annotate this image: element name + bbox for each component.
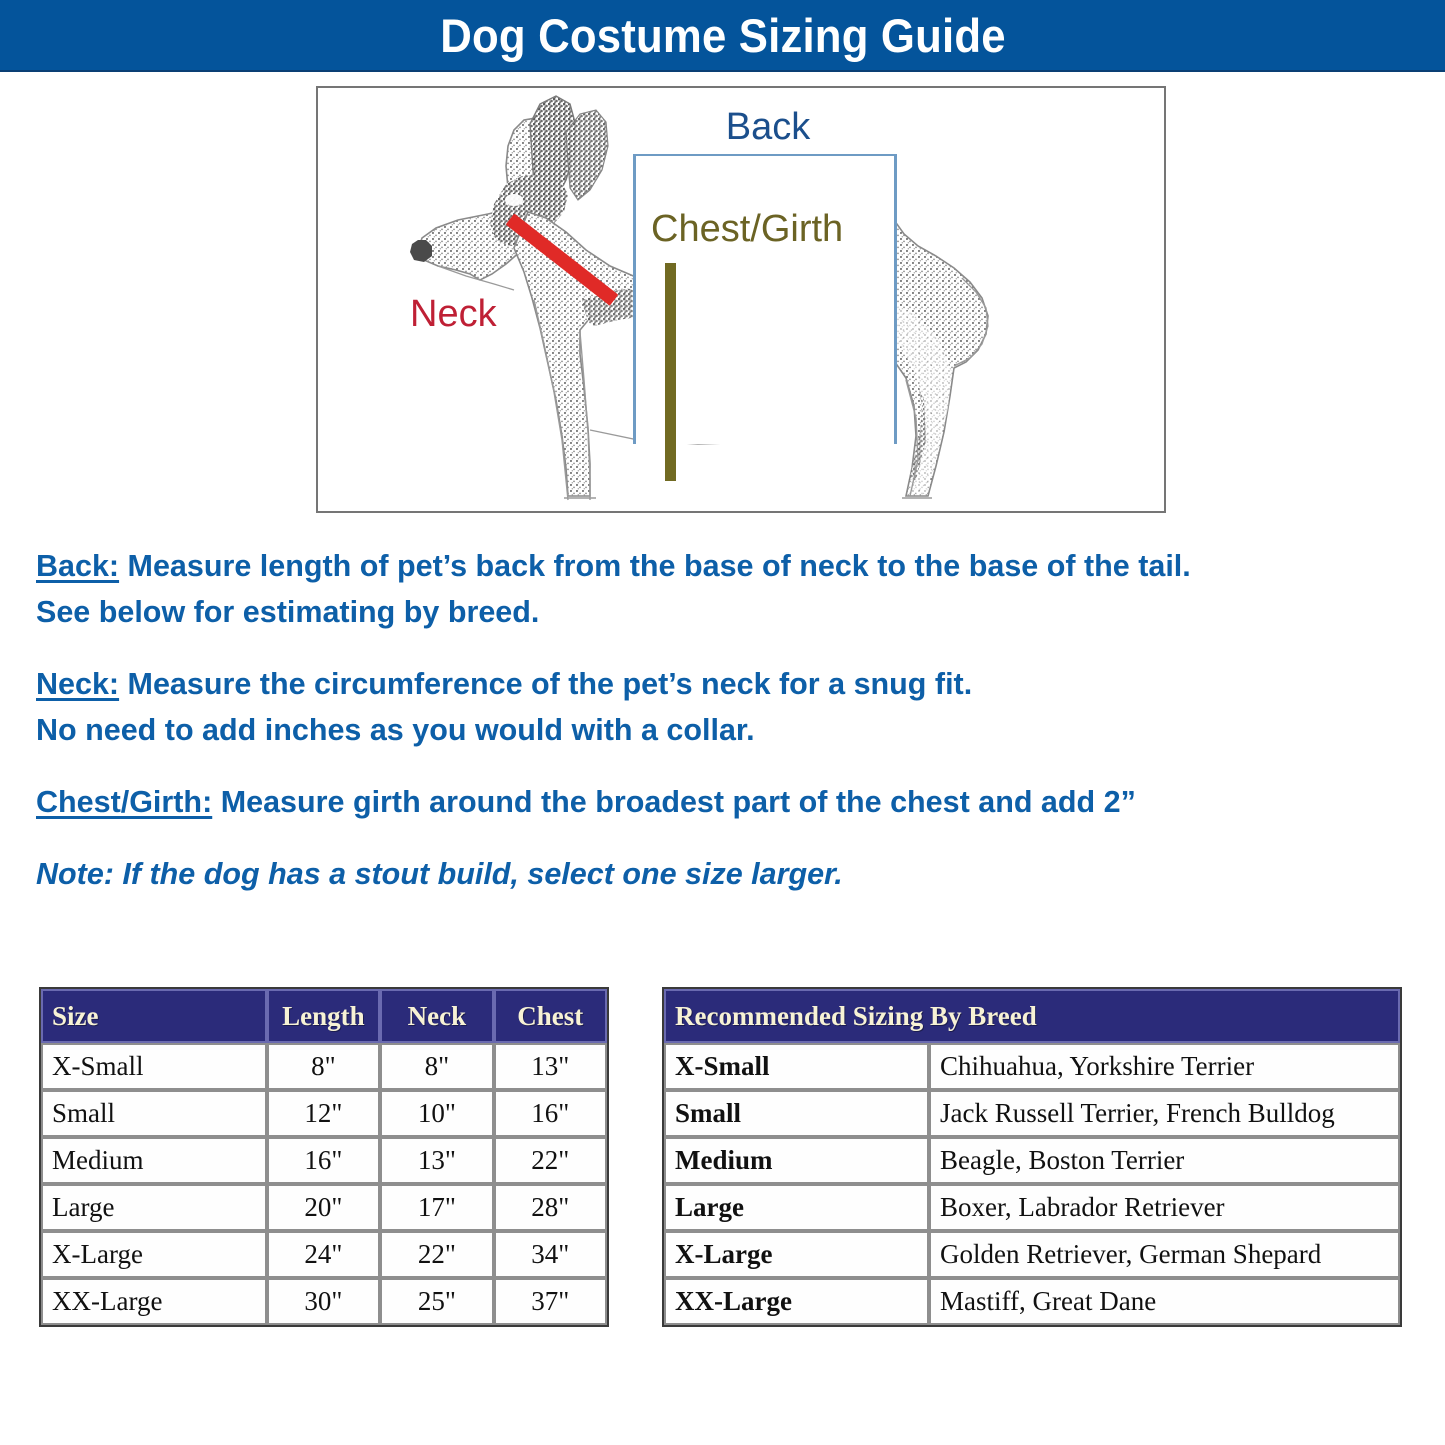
breed-table-title: Recommended Sizing By Breed — [664, 989, 1400, 1043]
measurement-instructions: Back: Measure length of pet’s back from … — [36, 543, 1406, 897]
label-back: Back — [618, 108, 918, 146]
page-title: Dog Costume Sizing Guide — [440, 12, 1005, 59]
label-neck: Neck — [410, 295, 497, 333]
table-row: Small Jack Russell Terrier, French Bulld… — [664, 1090, 1400, 1137]
table-row: Medium Beagle, Boston Terrier — [664, 1137, 1400, 1184]
column-header-neck: Neck — [380, 989, 493, 1043]
instruction-back-text-1: Measure length of pet’s back from the ba… — [119, 549, 1191, 583]
cell-size: Medium — [664, 1137, 929, 1184]
cell-neck: 13" — [380, 1137, 493, 1184]
cell-size: X-Small — [664, 1043, 929, 1090]
cell-neck: 22" — [380, 1231, 493, 1278]
instruction-neck-text-1: Measure the circumference of the pet’s n… — [119, 667, 972, 701]
cell-length: 8" — [267, 1043, 381, 1090]
instruction-neck-line-1: Neck: Measure the circumference of the p… — [36, 661, 1406, 707]
cell-neck: 8" — [380, 1043, 493, 1090]
table-row: XX-Large Mastiff, Great Dane — [664, 1278, 1400, 1325]
dog-rear-ear — [344, 310, 418, 380]
cell-length: 12" — [267, 1090, 381, 1137]
cell-size: Small — [41, 1090, 267, 1137]
cell-length: 30" — [267, 1278, 381, 1325]
cell-breeds: Chihuahua, Yorkshire Terrier — [929, 1043, 1400, 1090]
cell-neck: 25" — [380, 1278, 493, 1325]
table-row: X-Large Golden Retriever, German Shepard — [664, 1231, 1400, 1278]
table-row: XX-Large 30" 25" 37" — [41, 1278, 607, 1325]
table-header-row: Size Length Neck Chest — [41, 989, 607, 1043]
chest-girth-measure-bar — [665, 263, 676, 481]
instruction-note: Note: If the dog has a stout build, sele… — [36, 851, 1406, 897]
cell-breeds: Golden Retriever, German Shepard — [929, 1231, 1400, 1278]
size-measurements-table: Size Length Neck Chest X-Small 8" 8" 13"… — [39, 987, 609, 1327]
cell-length: 24" — [267, 1231, 381, 1278]
instruction-back-label: Back: — [36, 549, 119, 583]
cell-breeds: Boxer, Labrador Retriever — [929, 1184, 1400, 1231]
cell-size: Small — [664, 1090, 929, 1137]
cell-breeds: Beagle, Boston Terrier — [929, 1137, 1400, 1184]
cell-chest: 22" — [494, 1137, 607, 1184]
cell-length: 16" — [267, 1137, 381, 1184]
cell-size: Large — [41, 1184, 267, 1231]
table-row: Medium 16" 13" 22" — [41, 1137, 607, 1184]
instruction-chest-label: Chest/Girth: — [36, 785, 212, 819]
cell-neck: 10" — [380, 1090, 493, 1137]
cell-size: XX-Large — [41, 1278, 267, 1325]
cell-chest: 13" — [494, 1043, 607, 1090]
instruction-back-line-2: See below for estimating by breed. — [36, 589, 1406, 635]
table-row: Large 20" 17" 28" — [41, 1184, 607, 1231]
instruction-chest: Chest/Girth: Measure girth around the br… — [36, 779, 1406, 825]
table-row: X-Small Chihuahua, Yorkshire Terrier — [664, 1043, 1400, 1090]
cell-size: X-Large — [41, 1231, 267, 1278]
breed-recommendation-table: Recommended Sizing By Breed X-Small Chih… — [662, 987, 1402, 1327]
instruction-back-line-1: Back: Measure length of pet’s back from … — [36, 543, 1406, 589]
table-row: Large Boxer, Labrador Retriever — [664, 1184, 1400, 1231]
cell-size: X-Large — [664, 1231, 929, 1278]
table-header-row: Recommended Sizing By Breed — [664, 989, 1400, 1043]
instruction-chest-text-1: Measure girth around the broadest part o… — [212, 785, 1136, 819]
cell-neck: 17" — [380, 1184, 493, 1231]
column-header-length: Length — [267, 989, 381, 1043]
dog-measurement-diagram: Back Chest/Girth Neck — [316, 86, 1166, 513]
column-header-chest: Chest — [494, 989, 607, 1043]
column-header-size: Size — [41, 989, 267, 1043]
instruction-back: Back: Measure length of pet’s back from … — [36, 543, 1406, 635]
instruction-neck: Neck: Measure the circumference of the p… — [36, 661, 1406, 753]
cell-breeds: Mastiff, Great Dane — [929, 1278, 1400, 1325]
instruction-neck-label: Neck: — [36, 667, 119, 701]
table-row: X-Small 8" 8" 13" — [41, 1043, 607, 1090]
table-row: Small 12" 10" 16" — [41, 1090, 607, 1137]
table-row: X-Large 24" 22" 34" — [41, 1231, 607, 1278]
cell-size: X-Small — [41, 1043, 267, 1090]
header-banner: Dog Costume Sizing Guide — [0, 0, 1445, 72]
label-chest-girth: Chest/Girth — [651, 210, 843, 248]
cell-length: 20" — [267, 1184, 381, 1231]
cell-chest: 34" — [494, 1231, 607, 1278]
cell-chest: 16" — [494, 1090, 607, 1137]
cell-size: Large — [664, 1184, 929, 1231]
cell-breeds: Jack Russell Terrier, French Bulldog — [929, 1090, 1400, 1137]
cell-size: Medium — [41, 1137, 267, 1184]
cell-chest: 28" — [494, 1184, 607, 1231]
cell-size: XX-Large — [664, 1278, 929, 1325]
cell-chest: 37" — [494, 1278, 607, 1325]
instruction-chest-line-1: Chest/Girth: Measure girth around the br… — [36, 779, 1406, 825]
sizing-guide-page: Dog Costume Sizing Guide — [0, 0, 1445, 1445]
instruction-neck-line-2: No need to add inches as you would with … — [36, 707, 1406, 753]
